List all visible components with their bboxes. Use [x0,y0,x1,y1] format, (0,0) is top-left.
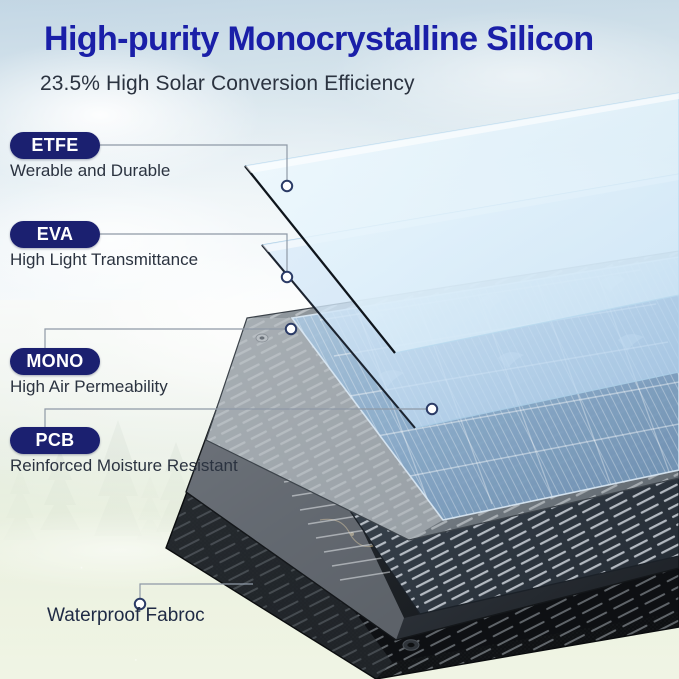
grommet-icon-2 [403,640,419,650]
callout-mono[interactable]: MONO High Air Permeability [10,348,168,397]
badge-eva[interactable]: EVA [10,221,100,248]
page-subtitle: 23.5% High Solar Conversion Efficiency [40,72,660,96]
badge-mono[interactable]: MONO [10,348,100,375]
description-eva: High Light Transmittance [10,250,198,270]
grommet-icon-4 [256,334,268,342]
exploded-panel-stack [0,0,679,679]
badge-pcb[interactable]: PCB [10,427,100,454]
callout-pcb[interactable]: PCB Reinforced Moisture Resistant [10,427,238,476]
callout-eva[interactable]: EVA High Light Transmittance [10,221,198,270]
description-mono: High Air Permeability [10,377,168,397]
description-etfe: Werable and Durable [10,161,170,181]
panel-layers-svg [0,0,679,679]
badge-etfe[interactable]: ETFE [10,132,100,159]
infographic-canvas: High-purity Monocrystalline Silicon 23.5… [0,0,679,679]
description-pcb: Reinforced Moisture Resistant [10,456,238,476]
label-waterproof-fabric: Waterproof Fabroc [47,605,205,627]
page-title: High-purity Monocrystalline Silicon [44,20,664,59]
callout-etfe[interactable]: ETFE Werable and Durable [10,132,170,181]
